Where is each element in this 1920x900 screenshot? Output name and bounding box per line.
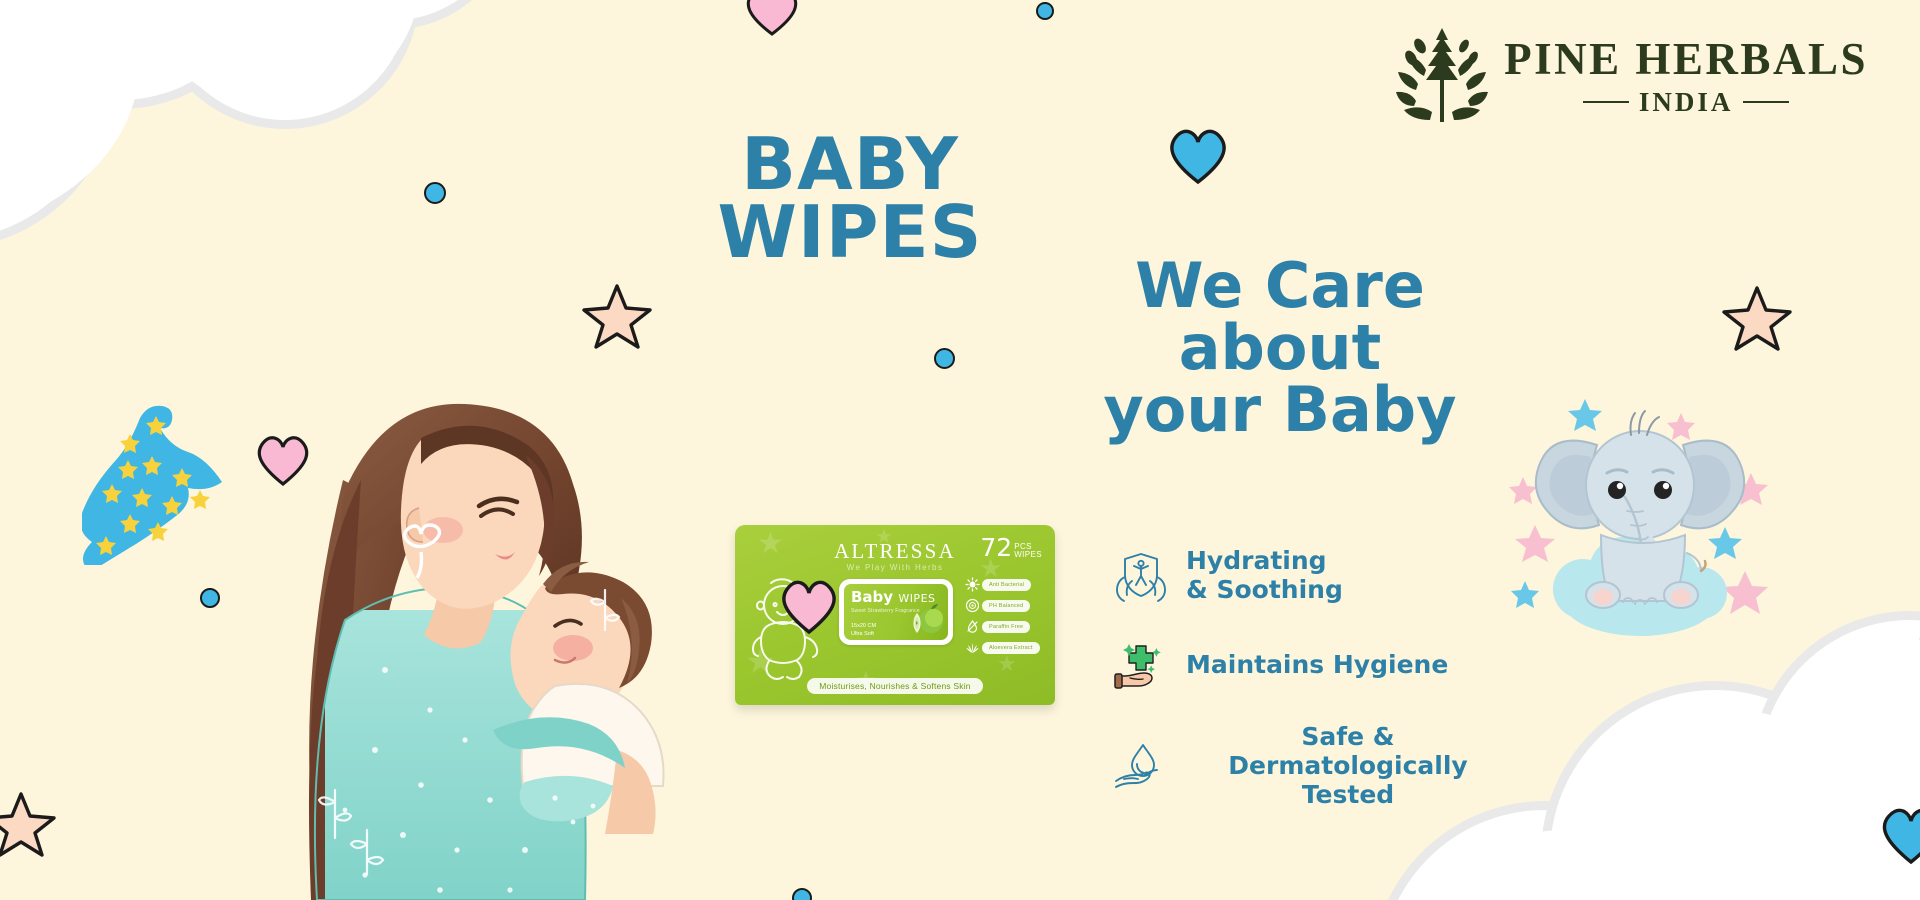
brand-logo: PINE HERBALS INDIA: [1394, 24, 1868, 128]
dot-decoration: [1036, 2, 1054, 20]
tagline-line-3: your Baby: [1100, 379, 1460, 441]
star-decoration-peach: [0, 790, 56, 863]
logo-brand-name: PINE HERBALS: [1504, 37, 1868, 82]
package-footer-claim: Moisturises, Nourishes & Softens Skin: [735, 676, 1055, 694]
package-badge-label: Anti Bacterial: [982, 579, 1031, 591]
aloe-leaf-icon: [965, 640, 980, 655]
logo-rule-left: [1583, 101, 1629, 103]
drop-free-icon: [965, 619, 980, 634]
baby-wipes-promo-banner: PINE HERBALS INDIA BABY WIPES We Care ab…: [0, 0, 1920, 900]
feature-label-line-1: Maintains Hygiene: [1186, 651, 1448, 680]
package-body: ★ ★ ★ ★ ★ ★ ALTRESSA We Play With Herbs …: [735, 525, 1055, 705]
logo-rule-right: [1743, 101, 1789, 103]
hand-with-medical-cross-icon: [1110, 634, 1172, 696]
package-front-label: Baby WIPES Sweet Strawberry Fragrance 15…: [839, 579, 953, 645]
label-spec-softness: Ultra Soft: [851, 631, 874, 637]
green-apple-icon: [903, 604, 943, 636]
package-badge: Anti Bacterial: [965, 577, 1051, 592]
mother-holding-baby-illustration: [225, 330, 685, 900]
pine-tree-herbs-icon: [1394, 24, 1490, 128]
package-footer-claim-text: Moisturises, Nourishes & Softens Skin: [807, 678, 983, 694]
feature-item-dermatologically-tested: Safe & Dermatologically Tested: [1110, 723, 1510, 809]
sun-burst-icon: [965, 577, 980, 592]
heart-decoration-blue: [1164, 124, 1920, 186]
label-title-bold: Baby: [851, 588, 893, 606]
feature-list: Hydrating & Soothing: [1110, 545, 1510, 836]
package-count-number: 72: [980, 535, 1012, 560]
package-badge-label: PH Balanced: [982, 600, 1030, 612]
feature-label-line-2: & Soothing: [1186, 576, 1343, 605]
baby-elephant-on-cloud-illustration: [1505, 385, 1775, 655]
tagline-line-2: about: [1100, 317, 1460, 379]
feature-item-hygiene: Maintains Hygiene: [1110, 634, 1510, 696]
package-badge: Paraffin Free: [965, 619, 1051, 634]
cloud-top-left-decoration: [0, 0, 500, 280]
page-title: BABY WIPES: [700, 130, 1000, 267]
feature-label-line-1: Safe &: [1186, 723, 1510, 752]
feature-label-dermatologically-tested: Safe & Dermatologically Tested: [1186, 723, 1510, 809]
heart-decoration-blue: [1876, 802, 1920, 866]
feature-label-line-2: Dermatologically Tested: [1186, 752, 1510, 810]
package-count-unit-wipes: WIPES: [1014, 551, 1042, 559]
dot-decoration: [200, 588, 220, 608]
logo-country: INDIA: [1639, 89, 1734, 116]
package-badge-label: Aloevera Extract: [982, 642, 1040, 654]
feature-label-hydrating: Hydrating & Soothing: [1186, 547, 1343, 605]
package-badge: Aloevera Extract: [965, 640, 1051, 655]
package-brand-tagline: We Play With Herbs: [735, 563, 1055, 572]
label-title: Baby WIPES: [851, 590, 941, 605]
water-drop-in-hand-icon: [1110, 735, 1172, 797]
dot-decoration: [792, 888, 812, 900]
dot-decoration: [424, 182, 446, 204]
label-spec-size: 15x20 CM: [851, 623, 876, 629]
ph-circle-icon: [965, 598, 980, 613]
product-package: ★ ★ ★ ★ ★ ★ ALTRESSA We Play With Herbs …: [735, 525, 1055, 705]
package-badge-list: Anti Bacterial PH Balanced: [965, 577, 1051, 661]
feature-label-hygiene: Maintains Hygiene: [1186, 651, 1448, 680]
india-map-with-stars-decoration: [82, 400, 227, 565]
tagline-line-1: We Care: [1100, 255, 1460, 317]
feature-item-hydrating: Hydrating & Soothing: [1110, 545, 1510, 607]
headline-line-2: WIPES: [700, 198, 1000, 266]
baby-outline-icon: [749, 575, 827, 683]
tagline-heading: We Care about your Baby: [1100, 255, 1460, 441]
package-count: 72 PCS WIPES: [980, 535, 1042, 560]
feature-label-line-1: Hydrating: [1186, 547, 1343, 576]
shield-in-hands-icon: [1110, 545, 1172, 607]
package-badge-label: Paraffin Free: [982, 621, 1030, 633]
package-badge: PH Balanced: [965, 598, 1051, 613]
dot-decoration: [934, 348, 955, 369]
star-decoration-peach: [1722, 284, 1792, 357]
